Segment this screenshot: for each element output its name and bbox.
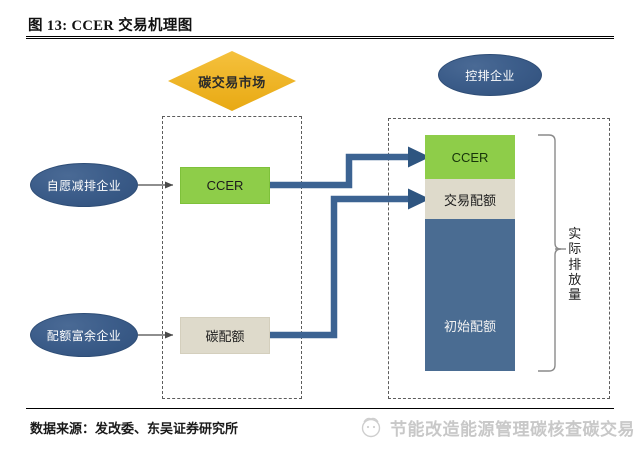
- stack-segment-ccer[interactable]: CCER: [425, 135, 515, 179]
- stack-segment-initial-quota-label: 初始配额: [444, 316, 496, 335]
- node-quota-surplus-enterprise[interactable]: 配额富余企业: [30, 313, 138, 357]
- source-note: 数据来源：发改委、东吴证券研究所: [30, 418, 238, 437]
- stack-segment-trade-quota-label: 交易配额: [444, 190, 496, 209]
- node-control-enterprise[interactable]: 控排企业: [438, 54, 542, 96]
- node-market-ccer-label: CCER: [207, 178, 244, 193]
- page-title: 图 13: CCER 交易机理图: [28, 14, 193, 35]
- figure-canvas: 图 13: CCER 交易机理图: [0, 0, 640, 452]
- actual-emission-label-char-3: 排: [566, 257, 584, 272]
- node-market-carbon-quota[interactable]: 碳配额: [180, 317, 270, 354]
- watermark-text: 节能改造能源管理碳核查碳交易: [390, 415, 635, 440]
- node-voluntary-reduction-enterprise[interactable]: 自愿减排企业: [30, 163, 138, 207]
- actual-emission-label-char-2: 际: [566, 241, 584, 256]
- watermark: 节能改造能源管理碳核查碳交易: [358, 414, 635, 440]
- footer-divider: [26, 408, 614, 409]
- circular-badge-icon: [358, 414, 384, 440]
- actual-emission-label: 实 际 排 放 量: [566, 226, 584, 303]
- actual-emission-label-char-5: 量: [566, 287, 584, 302]
- node-quota-surplus-enterprise-label: 配额富余企业: [47, 327, 121, 344]
- stack-segment-ccer-label: CCER: [452, 150, 489, 165]
- node-voluntary-reduction-enterprise-label: 自愿减排企业: [47, 177, 121, 194]
- node-control-enterprise-label: 控排企业: [465, 67, 515, 84]
- node-market-carbon-quota-label: 碳配额: [205, 326, 244, 345]
- stack-segment-initial-quota[interactable]: 初始配额: [425, 219, 515, 371]
- carbon-market-diamond-label: 碳交易市场: [168, 51, 296, 111]
- actual-emission-label-char-1: 实: [566, 226, 584, 241]
- title-divider: [26, 36, 614, 39]
- actual-emission-label-char-4: 放: [566, 272, 584, 287]
- carbon-market-diamond: 碳交易市场: [168, 51, 296, 111]
- node-market-ccer[interactable]: CCER: [180, 167, 270, 204]
- carbon-trading-market-region: [162, 116, 302, 399]
- stack-segment-trade-quota[interactable]: 交易配额: [425, 179, 515, 219]
